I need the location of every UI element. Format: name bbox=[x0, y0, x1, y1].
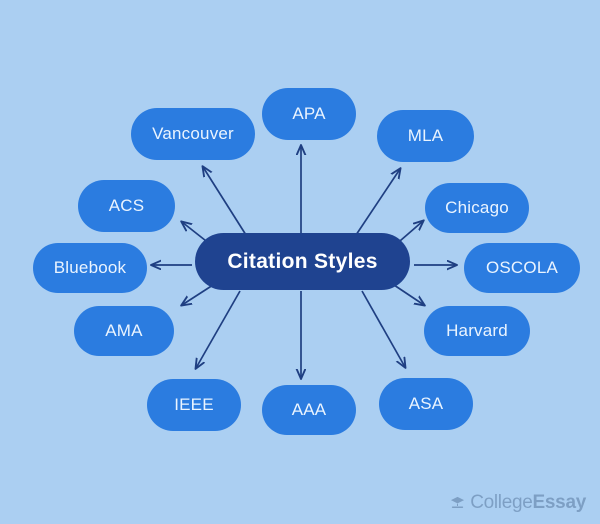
watermark-text-light: College bbox=[470, 492, 532, 513]
watermark: CollegeEssay bbox=[450, 493, 586, 512]
arrow-to-ieee bbox=[196, 291, 240, 368]
node-acs[interactable]: ACS bbox=[78, 180, 175, 232]
node-ama[interactable]: AMA bbox=[74, 306, 174, 356]
arrow-to-harvard bbox=[394, 285, 424, 305]
node-label: ACS bbox=[109, 196, 145, 216]
node-aaa[interactable]: AAA bbox=[262, 385, 356, 435]
node-label: AAA bbox=[292, 400, 327, 420]
node-label: Chicago bbox=[445, 198, 509, 218]
arrow-to-asa bbox=[362, 291, 405, 367]
node-label: OSCOLA bbox=[486, 258, 558, 278]
node-asa[interactable]: ASA bbox=[379, 378, 473, 430]
node-label: IEEE bbox=[174, 395, 214, 415]
center-node-citation-styles[interactable]: Citation Styles bbox=[195, 233, 410, 290]
node-label: APA bbox=[292, 104, 325, 124]
node-label: Harvard bbox=[446, 321, 508, 341]
watermark-text-bold: Essay bbox=[533, 492, 586, 513]
diagram-canvas: Citation Styles APAVancouverMLAACSChicag… bbox=[0, 0, 600, 524]
node-ieee[interactable]: IEEE bbox=[147, 379, 241, 431]
arrow-to-ama bbox=[182, 285, 213, 305]
node-bluebook[interactable]: Bluebook bbox=[33, 243, 147, 293]
arrow-to-mla bbox=[356, 169, 400, 235]
node-label: MLA bbox=[408, 126, 444, 146]
node-label: ASA bbox=[409, 394, 444, 414]
node-chicago[interactable]: Chicago bbox=[425, 183, 529, 233]
node-harvard[interactable]: Harvard bbox=[424, 306, 530, 356]
watermark-text: CollegeEssay bbox=[470, 493, 586, 512]
arrow-to-vancouver bbox=[203, 167, 246, 235]
node-label: Vancouver bbox=[152, 124, 234, 144]
node-mla[interactable]: MLA bbox=[377, 110, 474, 162]
node-oscola[interactable]: OSCOLA bbox=[464, 243, 580, 293]
node-vancouver[interactable]: Vancouver bbox=[131, 108, 255, 160]
center-node-label: Citation Styles bbox=[227, 250, 377, 274]
graduation-cap-icon bbox=[450, 495, 465, 510]
node-label: Bluebook bbox=[54, 258, 127, 278]
node-label: AMA bbox=[105, 321, 142, 341]
node-apa[interactable]: APA bbox=[262, 88, 356, 140]
